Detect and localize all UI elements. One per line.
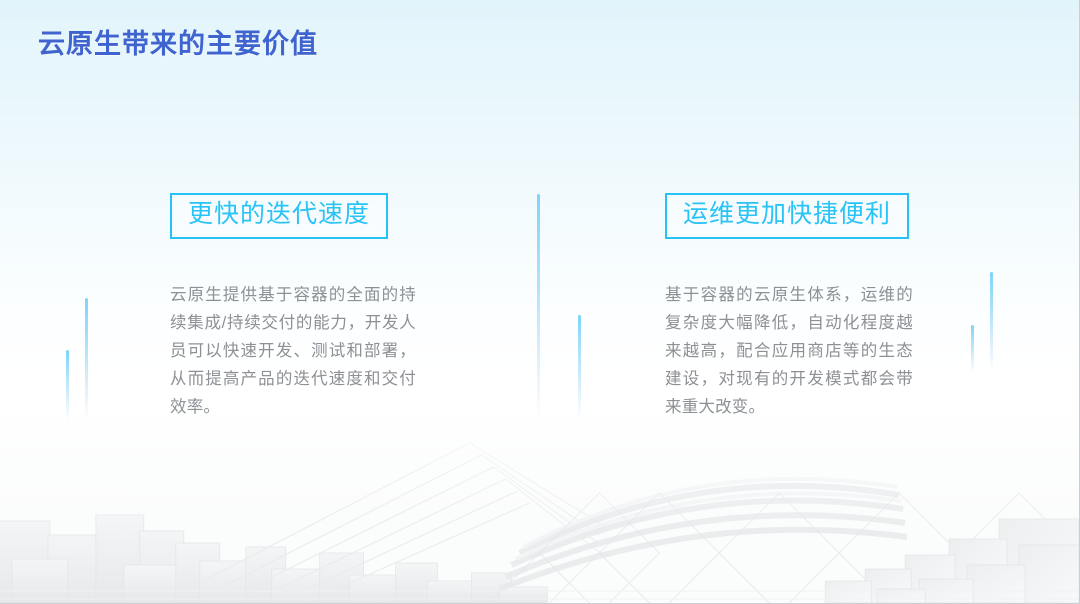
slide-canvas: 云原生带来的主要价值 更快的迭代速度 云原生提供基于容器的全面的持续集成/持续交… xyxy=(0,0,1080,604)
card-heading-box-1: 运维更加快捷便利 xyxy=(665,193,909,239)
card-heading-text-0: 更快的迭代速度 xyxy=(188,200,370,228)
card-body-text-0: 云原生提供基于容器的全面的持续集成/持续交付的能力，开发人员可以快速开发、测试和… xyxy=(170,281,416,421)
content-columns: 更快的迭代速度 云原生提供基于容器的全面的持续集成/持续交付的能力，开发人员可以… xyxy=(0,0,1079,603)
card-heading-text-1: 运维更加快捷便利 xyxy=(683,200,891,228)
value-column-faster-iteration: 更快的迭代速度 云原生提供基于容器的全面的持续集成/持续交付的能力，开发人员可以… xyxy=(170,193,420,421)
card-heading-box-0: 更快的迭代速度 xyxy=(170,193,388,239)
value-column-easier-operations: 运维更加快捷便利 基于容器的云原生体系，运维的复杂度大幅降低，自动化程度越来越高… xyxy=(665,193,915,421)
card-body-text-1: 基于容器的云原生体系，运维的复杂度大幅降低，自动化程度越来越高，配合应用商店等的… xyxy=(665,281,913,421)
